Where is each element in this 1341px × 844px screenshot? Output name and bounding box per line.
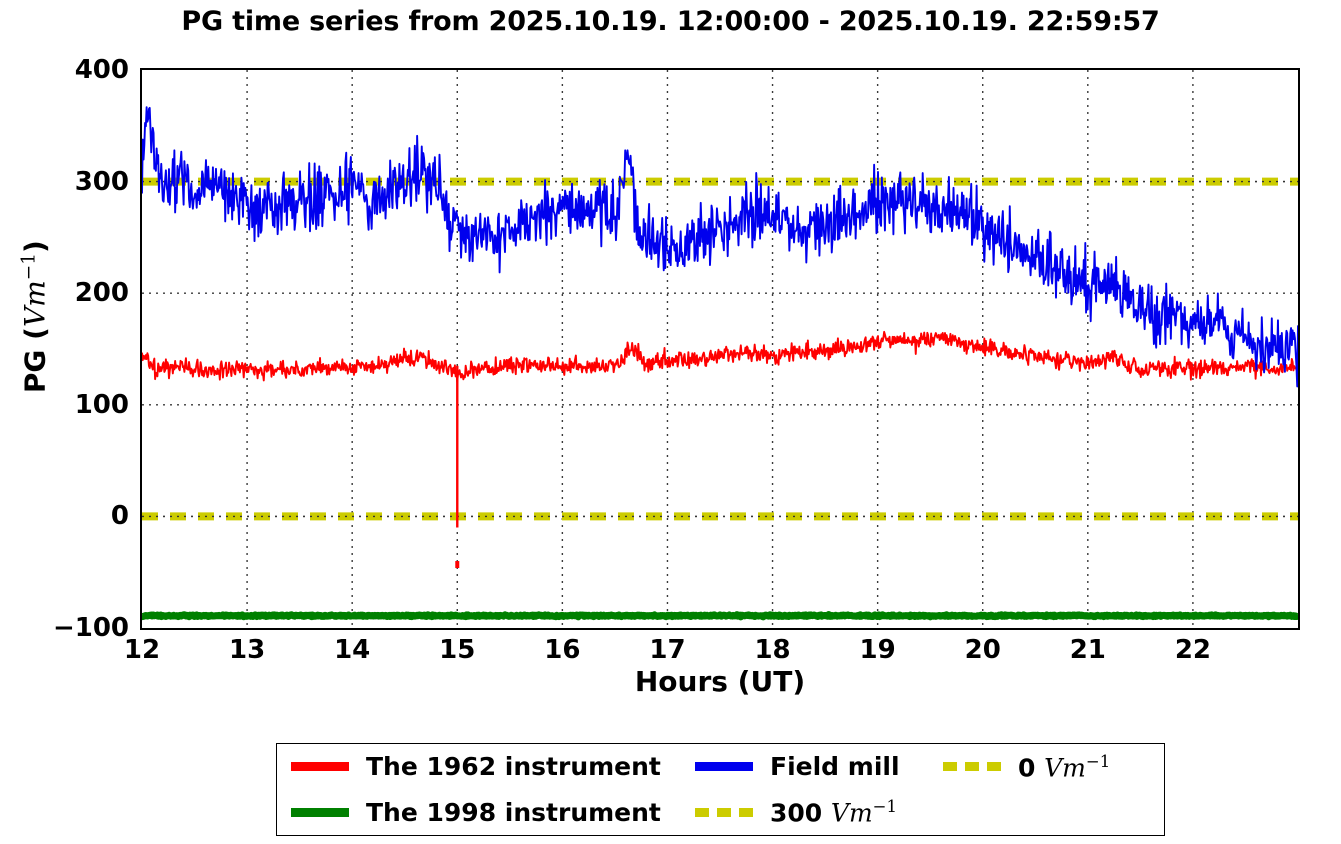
legend-swatch-solid-icon xyxy=(695,762,753,771)
series-line-1 xyxy=(142,107,1298,386)
legend-label: The 1962 instrument xyxy=(366,754,661,779)
legend-label-exponent: −1 xyxy=(1086,752,1110,771)
y-axis-label: PG (Vm−1) xyxy=(18,37,51,597)
x-tick-label: 14 xyxy=(312,637,392,663)
legend-label: 300 Vm−1 xyxy=(770,799,897,825)
x-tick-label: 17 xyxy=(627,637,707,663)
chart-legend: The 1962 instrumentField mill0 Vm−1The 1… xyxy=(276,743,1165,836)
legend-entry[interactable]: The 1998 instrument xyxy=(277,790,681,836)
legend-grid: The 1962 instrumentField mill0 Vm−1The 1… xyxy=(277,744,1164,835)
y-axis-label-prefix: PG ( xyxy=(19,327,52,393)
x-axis-label: Hours (UT) xyxy=(140,665,1300,698)
plot-svg xyxy=(142,70,1298,628)
x-tick-label: 13 xyxy=(207,637,287,663)
legend-swatch-dashed-icon xyxy=(695,808,753,817)
figure-canvas: PG time series from 2025.10.19. 12:00:00… xyxy=(0,0,1341,844)
x-tick-label: 22 xyxy=(1153,637,1233,663)
x-tick-label: 16 xyxy=(522,637,602,663)
series-spike-dot xyxy=(455,561,459,568)
legend-label-exponent: −1 xyxy=(873,797,897,816)
chart-title: PG time series from 2025.10.19. 12:00:00… xyxy=(0,6,1341,37)
y-axis-label-exponent: −1 xyxy=(18,253,39,280)
legend-label: The 1998 instrument xyxy=(366,800,661,825)
y-axis-label-wrap: PG (Vm−1) xyxy=(0,0,85,630)
legend-entry[interactable]: 300 Vm−1 xyxy=(681,790,929,836)
legend-label-value: 300 xyxy=(770,798,822,827)
legend-entry[interactable]: 0 Vm−1 xyxy=(929,744,1166,790)
series-line-2 xyxy=(142,615,1298,617)
legend-label: Field mill xyxy=(770,754,900,779)
x-tick-label: 15 xyxy=(417,637,497,663)
legend-entry[interactable]: Field mill xyxy=(681,744,929,790)
x-tick-label: 19 xyxy=(838,637,918,663)
x-tick-label: 20 xyxy=(943,637,1023,663)
x-tick-label: 18 xyxy=(733,637,813,663)
legend-swatch-solid-icon xyxy=(291,762,349,771)
series-line-0 xyxy=(142,332,1298,382)
legend-label-unit: Vm xyxy=(1044,753,1086,782)
legend-entry[interactable]: The 1962 instrument xyxy=(277,744,681,790)
legend-swatch-dashed-icon xyxy=(943,762,1001,771)
x-tick-label: 12 xyxy=(102,637,182,663)
legend-label-unit: Vm xyxy=(831,798,873,827)
x-tick-label: 21 xyxy=(1048,637,1128,663)
y-axis-label-suffix: ) xyxy=(19,240,52,253)
y-axis-label-unit: Vm xyxy=(19,280,52,327)
legend-swatch-solid-icon xyxy=(291,808,349,817)
plot-area xyxy=(140,68,1300,630)
legend-label-value: 0 xyxy=(1018,753,1035,782)
legend-label: 0 Vm−1 xyxy=(1018,754,1110,780)
